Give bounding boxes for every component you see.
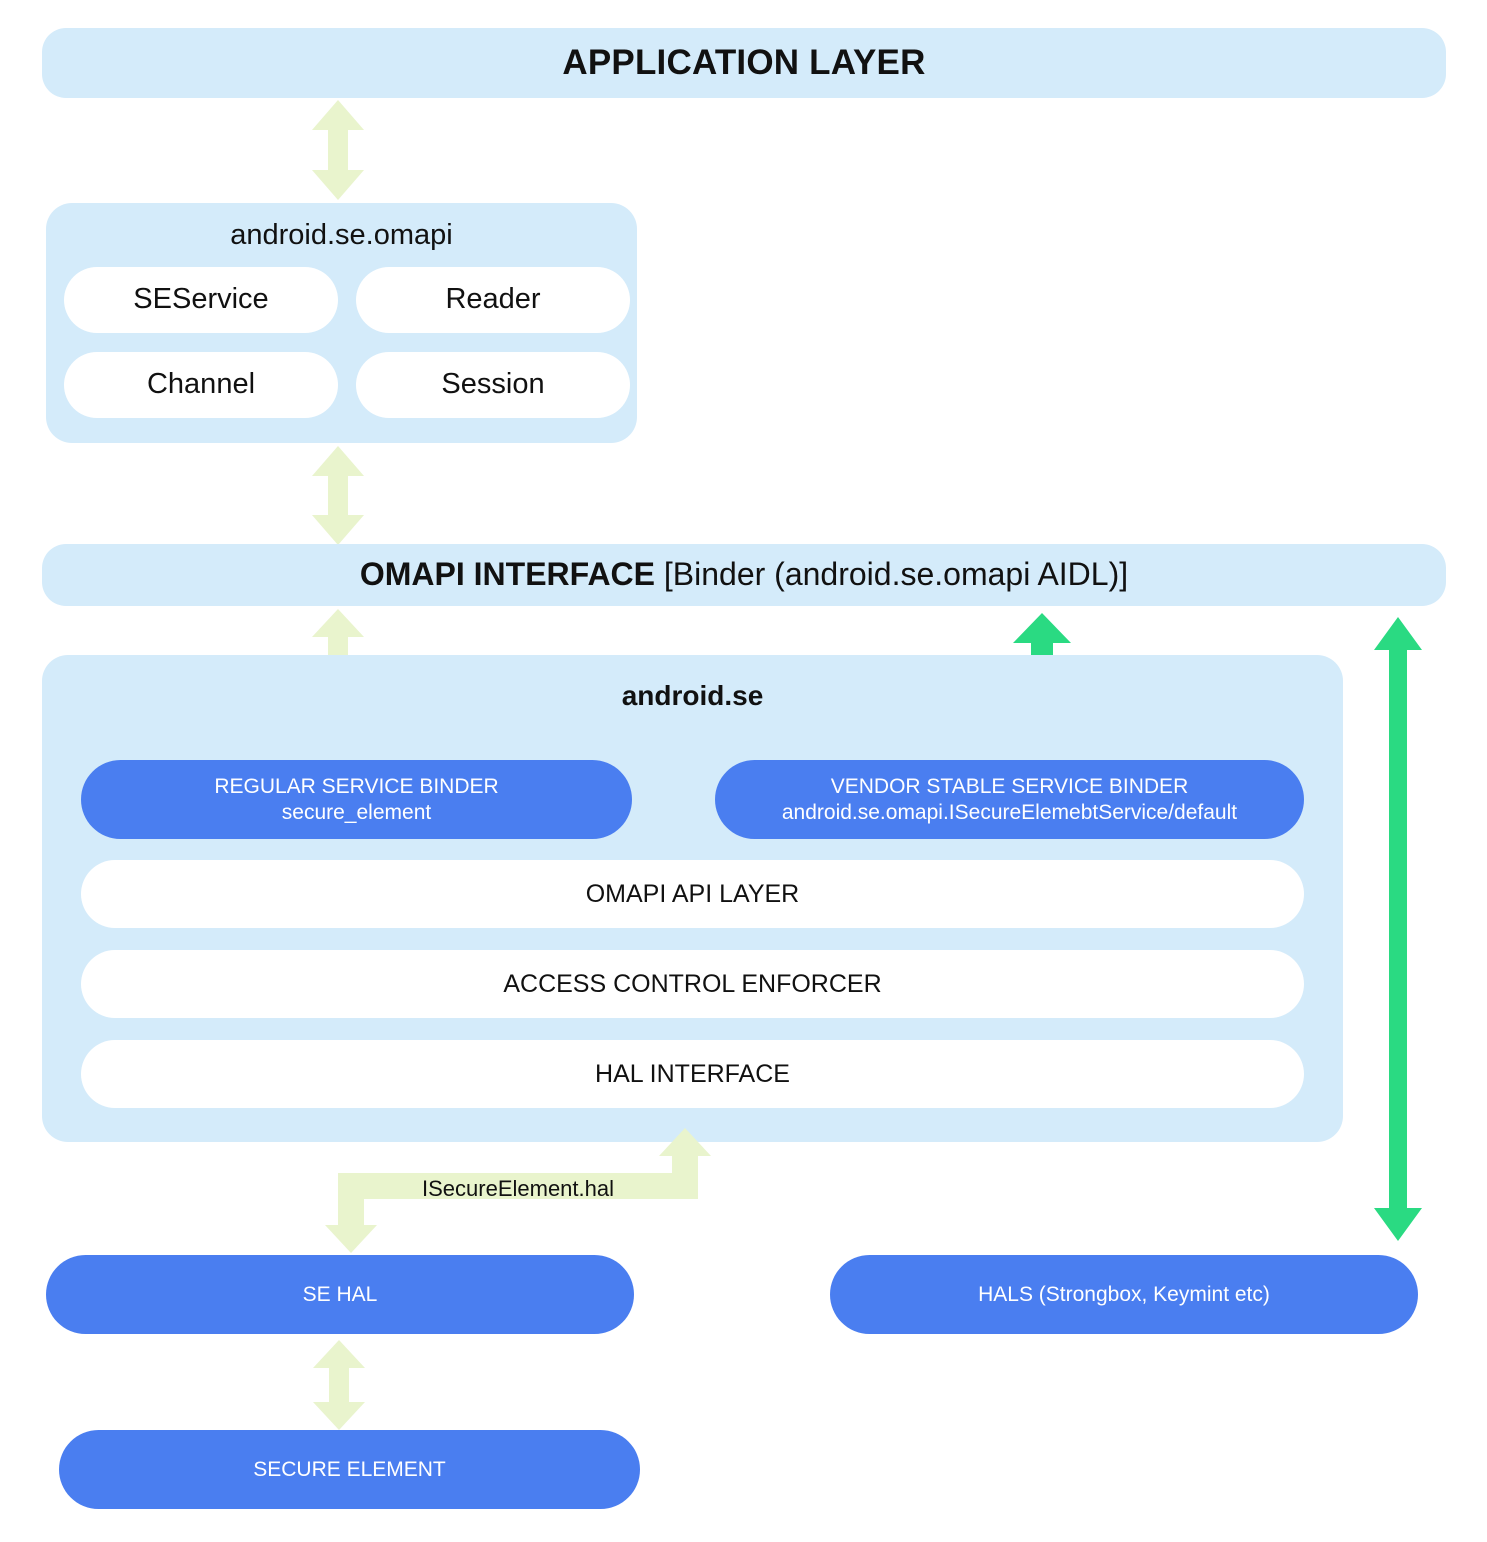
application-layer-box: APPLICATION LAYER [42,28,1446,98]
application-layer-title: APPLICATION LAYER [562,42,925,85]
omapi-class-label: Reader [445,282,540,317]
omapi-class-seservice[interactable]: SEService [64,267,338,333]
omapi-class-session[interactable]: Session [356,352,630,418]
se-hal-to-secure-element-arrow [313,1340,365,1430]
omapi-class-channel[interactable]: Channel [64,352,338,418]
omapi-interface-box: OMAPI INTERFACE [Binder (android.se.omap… [42,544,1446,606]
hals-other-label: HALS (Strongbox, Keymint etc) [978,1282,1270,1308]
secure-element-label: SECURE ELEMENT [253,1457,446,1483]
interface-to-hals-arrow [1374,617,1422,1241]
omapi-class-label: Channel [147,367,255,402]
omapi-class-reader[interactable]: Reader [356,267,630,333]
omapi-interface-title-group: OMAPI INTERFACE [Binder (android.se.omap… [360,555,1128,594]
vendor-stable-service-binder-box[interactable]: VENDOR STABLE SERVICE BINDER android.se.… [715,760,1304,839]
omapi-package-to-interface-arrow [312,446,364,545]
android-se-panel: android.se REGULAR SERVICE BINDER secure… [42,655,1343,1142]
hal-connector-label: ISecureElement.hal [422,1176,614,1202]
omapi-interface-title: OMAPI INTERFACE [360,556,655,592]
hal-interface-label: HAL INTERFACE [595,1059,790,1090]
hals-other-box[interactable]: HALS (Strongbox, Keymint etc) [830,1255,1418,1334]
omapi-package-title: android.se.omapi [230,219,452,251]
omapi-class-label: Session [441,367,544,402]
omapi-api-layer-label: OMAPI API LAYER [586,879,800,910]
android-se-title: android.se [622,680,764,711]
regular-service-binder-box[interactable]: REGULAR SERVICE BINDER secure_element [81,760,632,839]
omapi-class-label: SEService [133,282,268,317]
se-hal-label: SE HAL [303,1282,378,1308]
hal-interface-box[interactable]: HAL INTERFACE [81,1040,1304,1108]
architecture-diagram: APPLICATION LAYER android.se.omapi SESer… [0,0,1487,1542]
access-control-enforcer-box[interactable]: ACCESS CONTROL ENFORCER [81,950,1304,1018]
vendor-stable-service-binder-title: VENDOR STABLE SERVICE BINDER [831,774,1188,800]
secure-element-box[interactable]: SECURE ELEMENT [59,1430,640,1509]
se-hal-box[interactable]: SE HAL [46,1255,634,1334]
omapi-package-box: android.se.omapi SEService Reader Channe… [46,203,637,443]
regular-service-binder-title: REGULAR SERVICE BINDER [214,774,498,800]
access-control-enforcer-label: ACCESS CONTROL ENFORCER [503,969,881,1000]
regular-service-binder-value: secure_element [282,800,431,826]
app-to-omapi-package-arrow [312,100,364,200]
vendor-stable-service-binder-value: android.se.omapi.ISecureElemebtService/d… [782,800,1237,826]
omapi-interface-subtitle: [Binder (android.se.omapi AIDL)] [655,556,1128,592]
omapi-api-layer-box[interactable]: OMAPI API LAYER [81,860,1304,928]
